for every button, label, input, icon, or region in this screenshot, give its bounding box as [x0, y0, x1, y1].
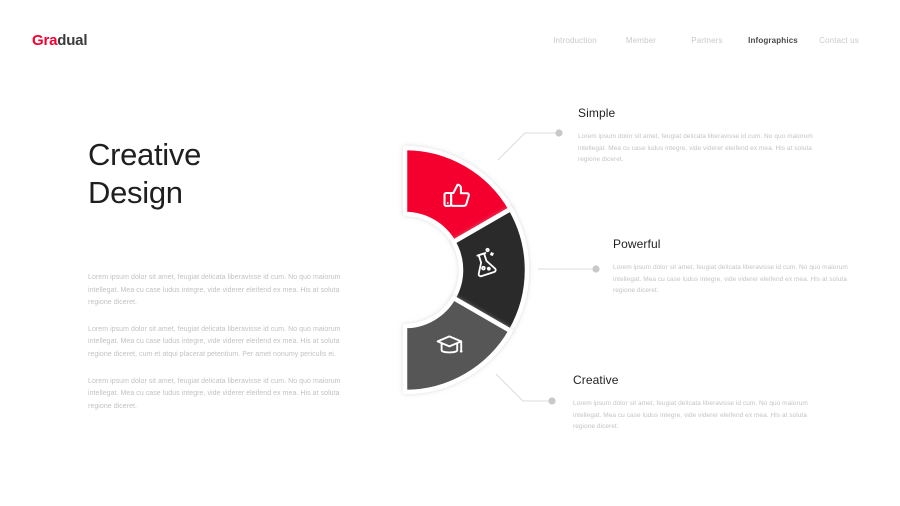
feature-card-simple-title: Simple: [578, 106, 828, 120]
nav-item-contact-us[interactable]: Contact us: [806, 36, 872, 45]
page-title-line-2: Design: [88, 174, 201, 212]
page-title: Creative Design: [88, 136, 201, 212]
brand-logo-accent: Gra: [32, 32, 57, 49]
hero-description: Lorem ipsum dolor sit amet, feugiat deli…: [88, 272, 350, 427]
main-navigation: Introduction Member Partners Infographic…: [542, 36, 872, 45]
feature-card-powerful-title: Powerful: [613, 237, 863, 251]
nav-item-member[interactable]: Member: [608, 36, 674, 45]
feature-card-powerful-body: Lorem ipsum dolor sit amet, feugiat deli…: [613, 262, 863, 297]
nav-item-infographics[interactable]: Infographics: [740, 36, 806, 45]
nav-item-introduction[interactable]: Introduction: [542, 36, 608, 45]
brand-logo[interactable]: Gradual: [32, 32, 87, 49]
connector-dot-simple: [555, 129, 562, 136]
feature-card-creative-body: Lorem ipsum dolor sit amet, feugiat deli…: [573, 398, 823, 433]
feature-card-creative-title: Creative: [573, 373, 823, 387]
nav-item-partners[interactable]: Partners: [674, 36, 740, 45]
page-title-line-1: Creative: [88, 136, 201, 174]
connector-dot-powerful: [592, 265, 599, 272]
hero-paragraph-2: Lorem ipsum dolor sit amet, feugiat deli…: [88, 324, 350, 362]
feature-card-powerful: Powerful Lorem ipsum dolor sit amet, feu…: [613, 237, 863, 297]
feature-card-simple-body: Lorem ipsum dolor sit amet, feugiat deli…: [578, 131, 828, 166]
feature-card-creative: Creative Lorem ipsum dolor sit amet, feu…: [573, 373, 823, 433]
hero-paragraph-3: Lorem ipsum dolor sit amet, feugiat deli…: [88, 376, 350, 414]
connector-dot-creative: [548, 397, 555, 404]
half-donut-chart: [385, 120, 535, 420]
page-header: Gradual Introduction Member Partners Inf…: [0, 0, 900, 80]
hero-paragraph-1: Lorem ipsum dolor sit amet, feugiat deli…: [88, 272, 350, 310]
brand-logo-rest: dual: [57, 32, 87, 49]
feature-card-simple: Simple Lorem ipsum dolor sit amet, feugi…: [578, 106, 828, 166]
